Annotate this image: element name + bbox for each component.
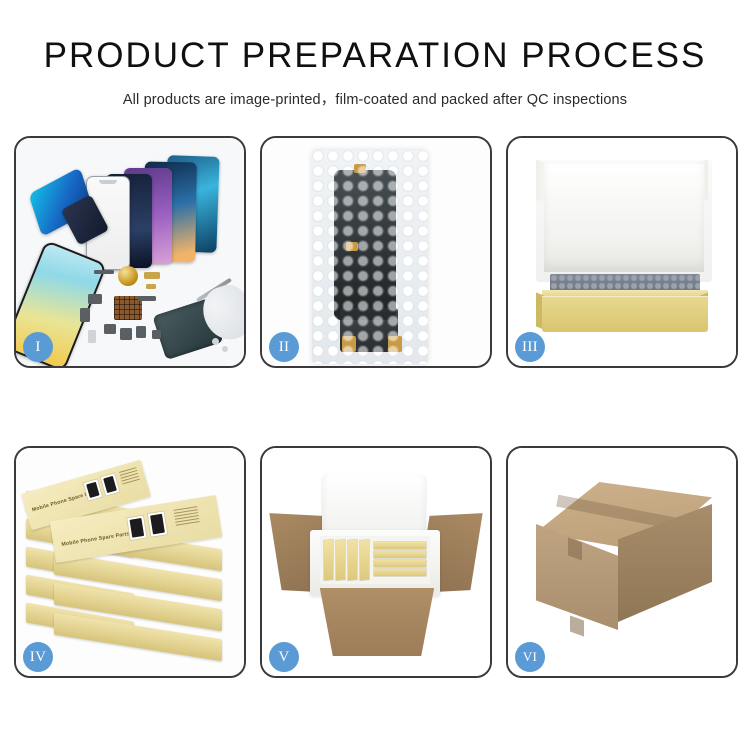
small-part-vibrator xyxy=(136,326,146,338)
page-subtitle: All products are image-printed，film-coat… xyxy=(0,88,750,109)
small-part-camera-module xyxy=(120,328,132,340)
retail-box-spec-lines-rear xyxy=(119,467,140,486)
process-step-grid: I II III xyxy=(14,136,740,678)
step-badge-2: II xyxy=(269,332,299,362)
process-step-panel-4[interactable]: Mobile Phone Spare Parts Mobile Phone Sp… xyxy=(14,446,246,678)
step-badge-4: IV xyxy=(23,642,53,672)
retail-box-window-front-a xyxy=(126,515,148,542)
packed-box-2 xyxy=(336,540,345,581)
retail-box-spec-lines-front xyxy=(173,506,200,528)
small-part-gold-clip xyxy=(146,284,156,289)
styrofoam-carton-packing-image xyxy=(262,448,490,676)
packed-box-8 xyxy=(374,569,426,576)
speaker-coil-part xyxy=(118,266,138,286)
process-step-panel-6[interactable]: VI xyxy=(506,446,738,678)
process-step-panel-2[interactable]: II xyxy=(260,136,492,368)
step-badge-3: III xyxy=(515,332,545,362)
process-step-panel-1[interactable]: I xyxy=(14,136,246,368)
carton-front-wall xyxy=(312,588,442,656)
small-part-sim-tray xyxy=(88,330,96,343)
sealed-shipping-carton-image xyxy=(508,448,736,676)
retail-box-stack: Mobile Phone Spare Parts Mobile Phone Sp… xyxy=(24,474,240,674)
small-part-cable xyxy=(138,296,156,301)
retail-box-window-front-b xyxy=(147,510,169,538)
kraft-box-front-wall xyxy=(542,296,708,332)
step-badge-1: I xyxy=(23,332,53,362)
screw-1 xyxy=(212,338,219,345)
small-part-button xyxy=(104,324,116,334)
small-part-gold-flex xyxy=(144,272,160,279)
phone-parts-overview-image xyxy=(16,138,244,366)
packed-box-6 xyxy=(374,551,426,558)
bubble-wrapped-part-image xyxy=(262,138,490,366)
gold-connector-mid xyxy=(346,242,358,251)
packed-box-7 xyxy=(374,560,426,567)
small-part-shield xyxy=(80,308,90,322)
small-part-bracket xyxy=(88,294,102,304)
screw-2 xyxy=(222,346,228,352)
styrofoam-cavity xyxy=(320,536,430,584)
foam-lined-inner-box-image xyxy=(508,138,736,366)
small-part-strip xyxy=(94,270,114,274)
page-title: PRODUCT PREPARATION PROCESS xyxy=(0,38,750,75)
step-badge-5: V xyxy=(269,642,299,672)
stacked-retail-boxes-image: Mobile Phone Spare Parts Mobile Phone Sp… xyxy=(16,448,244,676)
small-part-screw-set xyxy=(152,330,161,339)
packed-box-3 xyxy=(348,540,357,581)
retail-box-label-front: Mobile Phone Spare Parts xyxy=(61,531,130,548)
retail-box-window-rear-b xyxy=(99,472,120,497)
carton-tab-lower xyxy=(570,615,584,636)
packed-box-5 xyxy=(374,542,426,549)
page-header: PRODUCT PREPARATION PROCESS All products… xyxy=(0,0,750,109)
bubble-wrap-bag xyxy=(312,150,428,364)
process-step-panel-3[interactable]: III xyxy=(506,136,738,368)
step-badge-6: VI xyxy=(515,642,545,672)
gold-connector-bottom-right xyxy=(388,336,402,352)
gold-connector-bottom-left xyxy=(342,336,356,352)
packed-box-1 xyxy=(324,540,333,581)
gold-connector-top xyxy=(354,164,366,173)
wrapped-display-assembly xyxy=(334,170,396,320)
process-step-panel-5[interactable]: V xyxy=(260,446,492,678)
white-foam-sheet xyxy=(544,164,704,272)
packed-box-4 xyxy=(360,540,369,581)
